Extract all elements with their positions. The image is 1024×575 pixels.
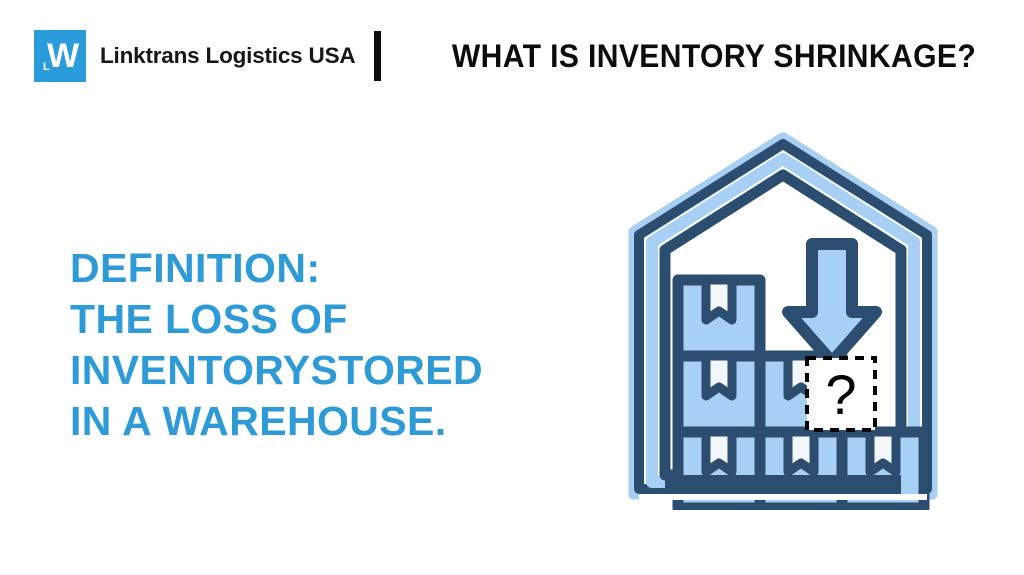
box-top-1	[678, 280, 760, 356]
page-title: WHAT IS INVENTORY SHRINKAGE?	[441, 29, 986, 83]
definition-line-2: THE LOSS OF	[70, 294, 610, 345]
slide-canvas: W L Linktrans Logistics USA WHAT IS INVE…	[0, 0, 1024, 575]
definition-line-4: IN A WAREHOUSE.	[70, 396, 610, 447]
logo-letter-w: W	[34, 30, 86, 82]
logo-letter-l: L	[43, 62, 50, 73]
svg-text:?: ?	[825, 363, 856, 426]
warehouse-shrinkage-illustration: ?	[618, 130, 948, 510]
definition-line-3: INVENTORYSTORED	[70, 345, 610, 396]
missing-box-question-icon: ?	[807, 358, 875, 430]
header-divider-bar	[374, 31, 381, 81]
brand-lockup: W L Linktrans Logistics USA	[34, 30, 355, 82]
down-arrow-icon	[788, 244, 876, 362]
brand-name-label: Linktrans Logistics USA	[100, 43, 355, 69]
linktrans-logo-mark-icon: W L	[34, 30, 86, 82]
definition-line-1: DEFINITION:	[70, 243, 610, 294]
box-middle-1	[678, 356, 760, 432]
header-bar: W L Linktrans Logistics USA WHAT IS INVE…	[0, 0, 1024, 110]
definition-text-block: DEFINITION: THE LOSS OF INVENTORYSTORED …	[70, 243, 610, 447]
